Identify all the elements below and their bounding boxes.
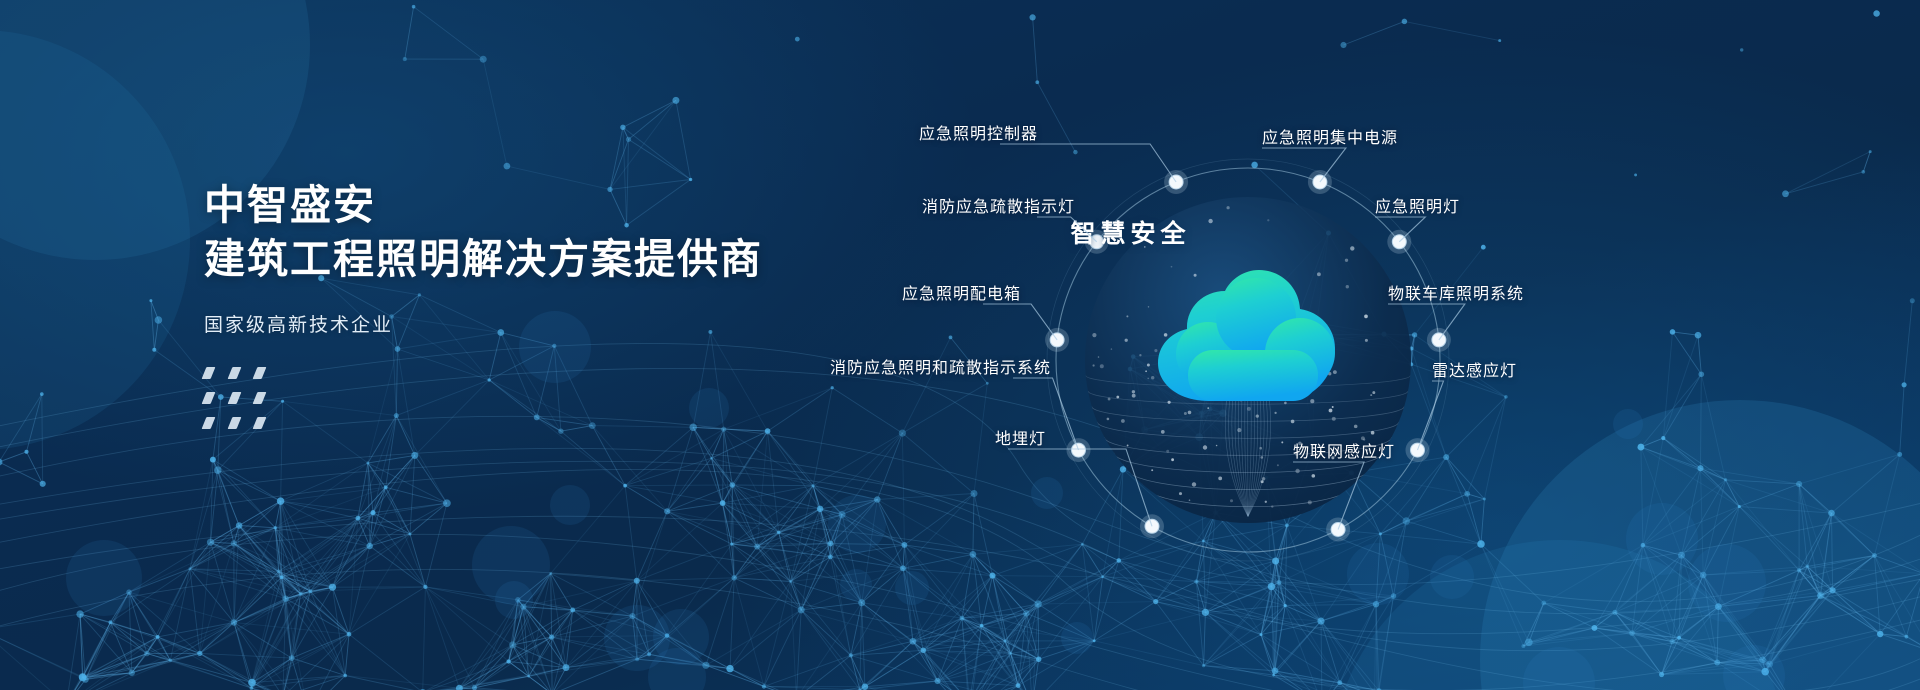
callout-node-iot-sensor-lamp[interactable] <box>1331 523 1345 537</box>
callout-label: 物联车库照明系统 <box>1388 286 1524 303</box>
callout-node-emergency-lighting-lamp[interactable] <box>1392 235 1406 249</box>
callout-emergency-lighting-panel[interactable]: 应急照明配电箱 <box>902 280 1021 304</box>
callout-label: 消防应急照明和疏散指示系统 <box>830 360 1051 377</box>
callout-node-fire-emergency-lighting-system[interactable] <box>1072 443 1086 457</box>
callout-label: 雷达感应灯 <box>1432 363 1517 380</box>
slash-mark <box>227 392 241 404</box>
callout-label: 应急照明配电箱 <box>902 286 1021 303</box>
callout-label: 消防应急疏散指示灯 <box>922 199 1075 216</box>
callout-label: 地埋灯 <box>995 431 1046 448</box>
slash-mark <box>227 417 241 429</box>
callout-node-iot-garage-lighting-system[interactable] <box>1432 333 1446 347</box>
callout-node-buried-ground-lamp[interactable] <box>1145 519 1159 533</box>
hero-banner: 中智盛安 建筑工程照明解决方案提供商 国家级高新技术企业 智慧安全 <box>0 0 1920 690</box>
callout-label: 物联网感应灯 <box>1293 444 1395 461</box>
callout-fire-evacuation-indicator-lamp[interactable]: 消防应急疏散指示灯 <box>922 193 1075 217</box>
slash-mark <box>253 392 267 404</box>
callout-node-emergency-lighting-panel[interactable] <box>1050 333 1064 347</box>
decorative-circle-top-left-2 <box>0 30 190 450</box>
callout-label: 应急照明控制器 <box>919 126 1038 143</box>
slash-mark <box>202 417 216 429</box>
callout-label: 应急照明灯 <box>1375 199 1460 216</box>
callout-buried-ground-lamp[interactable]: 地埋灯 <box>995 425 1046 449</box>
headline-block: 中智盛安 建筑工程照明解决方案提供商 国家级高新技术企业 <box>204 178 824 429</box>
headline-line-2: 建筑工程照明解决方案提供商 <box>204 232 824 286</box>
slash-mark <box>202 392 216 404</box>
slash-mark <box>253 367 267 379</box>
callout-iot-garage-lighting-system[interactable]: 物联车库照明系统 <box>1388 280 1524 304</box>
callout-emergency-lighting-power-supply[interactable]: 应急照明集中电源 <box>1262 124 1398 148</box>
cloud-label: 智慧安全 <box>1028 214 1228 250</box>
subtitle: 国家级高新技术企业 <box>204 310 824 337</box>
slash-mark <box>253 417 267 429</box>
callout-emergency-lighting-controller[interactable]: 应急照明控制器 <box>919 120 1038 144</box>
headline-line-1: 中智盛安 <box>204 178 824 232</box>
callout-node-radar-sensor-lamp[interactable] <box>1411 443 1425 457</box>
decorative-circle-bottom-right-1 <box>1480 400 1920 690</box>
callout-fire-emergency-lighting-system[interactable]: 消防应急照明和疏散指示系统 <box>830 354 1051 378</box>
slash-mark <box>202 367 216 379</box>
callout-emergency-lighting-lamp[interactable]: 应急照明灯 <box>1375 193 1460 217</box>
callout-iot-sensor-lamp[interactable]: 物联网感应灯 <box>1293 438 1395 462</box>
callout-node-emergency-lighting-controller[interactable] <box>1169 175 1183 189</box>
callout-node-emergency-lighting-power-supply[interactable] <box>1313 175 1327 189</box>
decorative-slash-grid <box>204 367 268 429</box>
callout-radar-sensor-lamp[interactable]: 雷达感应灯 <box>1432 357 1517 381</box>
slash-mark <box>227 367 241 379</box>
callout-label: 应急照明集中电源 <box>1262 130 1398 147</box>
cloud-icon <box>1148 258 1348 408</box>
